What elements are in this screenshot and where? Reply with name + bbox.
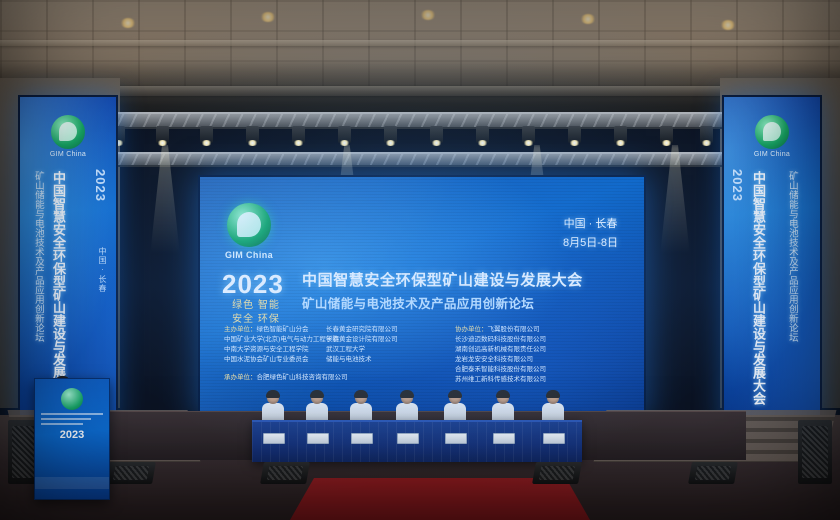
par-light xyxy=(568,126,581,143)
gim-logo-mark-icon xyxy=(227,203,271,247)
support-item-0: 飞翼股份有限公司 xyxy=(488,326,540,333)
organizers-support: 协办单位：飞翼股份有限公司 长沙迪迈数码科技股份有限公司 湖南创远高新机械有限责… xyxy=(455,325,546,385)
support-label: 协办单位： xyxy=(455,326,488,333)
par-light xyxy=(338,126,351,143)
nameplate xyxy=(543,433,565,444)
side-right-subtitle: 矿山储能与电池技术及产品应用创新论坛 xyxy=(786,171,797,401)
gim-logo-mark-icon xyxy=(51,115,85,149)
rollup-banner: 2023 xyxy=(34,378,110,500)
gim-logo-text: GIM China xyxy=(45,151,91,158)
par-light xyxy=(246,126,259,143)
side-left-title: 中国智慧安全环保型矿山建设与发展大会 xyxy=(50,171,65,411)
host-item-3: 中国水泥协会矿山专业委员会 xyxy=(224,355,339,365)
house-light xyxy=(120,18,136,28)
par-light xyxy=(200,126,213,143)
support-item-4: 合肥泰禾智能科技股份有限公司 xyxy=(455,365,546,375)
par-light xyxy=(292,126,305,143)
event-slogan-line1: 绿色 智能 xyxy=(220,299,292,313)
speaker-stack-right xyxy=(798,420,832,484)
support-item-2: 湖南创远高新机械有限责任公司 xyxy=(455,345,546,355)
gim-logo-right: GIM China xyxy=(749,115,795,158)
undertaker-item-0: 合肥绿色矿山科技咨询有限公司 xyxy=(257,374,348,381)
event-slogan: 绿色 智能 安全 环保 xyxy=(220,299,292,326)
ceiling-beam xyxy=(0,40,840,46)
stage-monitor-speaker xyxy=(532,462,582,484)
host-item-2: 中南大学资源与安全工程学院 xyxy=(224,345,339,355)
red-carpet xyxy=(290,478,590,520)
stage-photograph: GIM China 2023 中国 · 长春 中国智慧安全环保型矿山建设与发展大… xyxy=(0,0,840,520)
cohost-item-1: 长春黄金设计院有限公司 xyxy=(326,335,398,345)
par-light xyxy=(430,126,443,143)
side-right-title: 中国智慧安全环保型矿山建设与发展大会 xyxy=(750,171,765,411)
gim-logo-mark-icon xyxy=(755,115,789,149)
host-item-1: 中国矿业大学(北京)电气与动力工程学院 xyxy=(224,335,339,345)
rollup-caption-band xyxy=(35,477,109,489)
par-light xyxy=(614,126,627,143)
side-left-city: 中国 · 长春 xyxy=(97,247,108,293)
event-location-block: 中国 · 长春 8月5日-8日 xyxy=(563,215,618,252)
event-main-title: 中国智慧安全环保型矿山建设与发展大会 xyxy=(302,269,583,290)
support-item-3: 龙岩龙安安全科技有限公司 xyxy=(455,355,546,365)
par-light xyxy=(476,126,489,143)
nameplate xyxy=(445,433,467,444)
house-light xyxy=(260,12,276,22)
ceiling-shadow xyxy=(0,60,840,120)
house-light xyxy=(420,10,436,20)
nameplate xyxy=(397,433,419,444)
side-left-year: 2023 xyxy=(93,169,108,202)
house-light xyxy=(720,20,736,30)
cohost-item-0: 长春黄金研究院有限公司 xyxy=(326,325,398,335)
event-year: 2023 xyxy=(222,269,284,300)
organizers-host: 主办单位：绿色智能矿山分会 中国矿业大学(北京)电气与动力工程学院 中南大学资源… xyxy=(224,325,339,365)
event-sub-title: 矿山储能与电池技术及产品应用创新论坛 xyxy=(302,293,534,312)
nameplate xyxy=(307,433,329,444)
cohost-item-3: 储能与电池技术 xyxy=(326,355,398,365)
stage-monitor-speaker xyxy=(106,462,156,484)
side-right-year: 2023 xyxy=(730,169,745,202)
organizers-cohost: 长春黄金研究院有限公司 长春黄金设计院有限公司 武汉工程大学 储能与电池技术 xyxy=(326,325,398,365)
gim-logo-text: GIM China xyxy=(216,250,282,260)
host-item-0: 绿色智能矿山分会 xyxy=(257,326,309,333)
gim-logo-mark-icon xyxy=(61,388,83,410)
house-light xyxy=(580,14,596,24)
support-item-1: 长沙迪迈数码科技股份有限公司 xyxy=(455,335,546,345)
event-date: 8月5日-8日 xyxy=(563,234,618,253)
stage-monitor-speaker xyxy=(688,462,738,484)
par-light xyxy=(660,126,673,143)
cohost-item-2: 武汉工程大学 xyxy=(326,345,398,355)
nameplate xyxy=(493,433,515,444)
gim-logo-main: GIM China xyxy=(216,203,282,260)
host-label: 主办单位： xyxy=(224,326,257,333)
par-light xyxy=(156,126,169,143)
led-screen-right: GIM China 2023 中国智慧安全环保型矿山建设与发展大会 矿山储能与电… xyxy=(722,95,822,429)
undertaker-label: 承办单位： xyxy=(224,374,257,381)
side-left-subtitle: 矿山储能与电池技术及产品应用创新论坛 xyxy=(32,171,43,401)
event-city: 中国 · 长春 xyxy=(563,215,618,234)
nameplate xyxy=(263,433,285,444)
nameplate xyxy=(351,433,373,444)
gim-logo-text: GIM China xyxy=(749,151,795,158)
par-light xyxy=(522,126,535,143)
lighting-truss-mid xyxy=(110,152,735,167)
gim-logo-left: GIM China xyxy=(45,115,91,158)
organizers-undertaker: 承办单位：合肥绿色矿山科技咨询有限公司 xyxy=(224,373,348,383)
stage-monitor-speaker xyxy=(260,462,310,484)
support-item-5: 苏州维工新科传感技术有限公司 xyxy=(455,375,546,385)
par-light xyxy=(700,126,713,143)
par-light xyxy=(384,126,397,143)
led-screen-main: GIM China 2023 绿色 智能 安全 环保 中国智慧安全环保型矿山建设… xyxy=(198,175,646,422)
event-slogan-line2: 安全 环保 xyxy=(220,313,292,327)
rollup-year: 2023 xyxy=(35,429,109,441)
